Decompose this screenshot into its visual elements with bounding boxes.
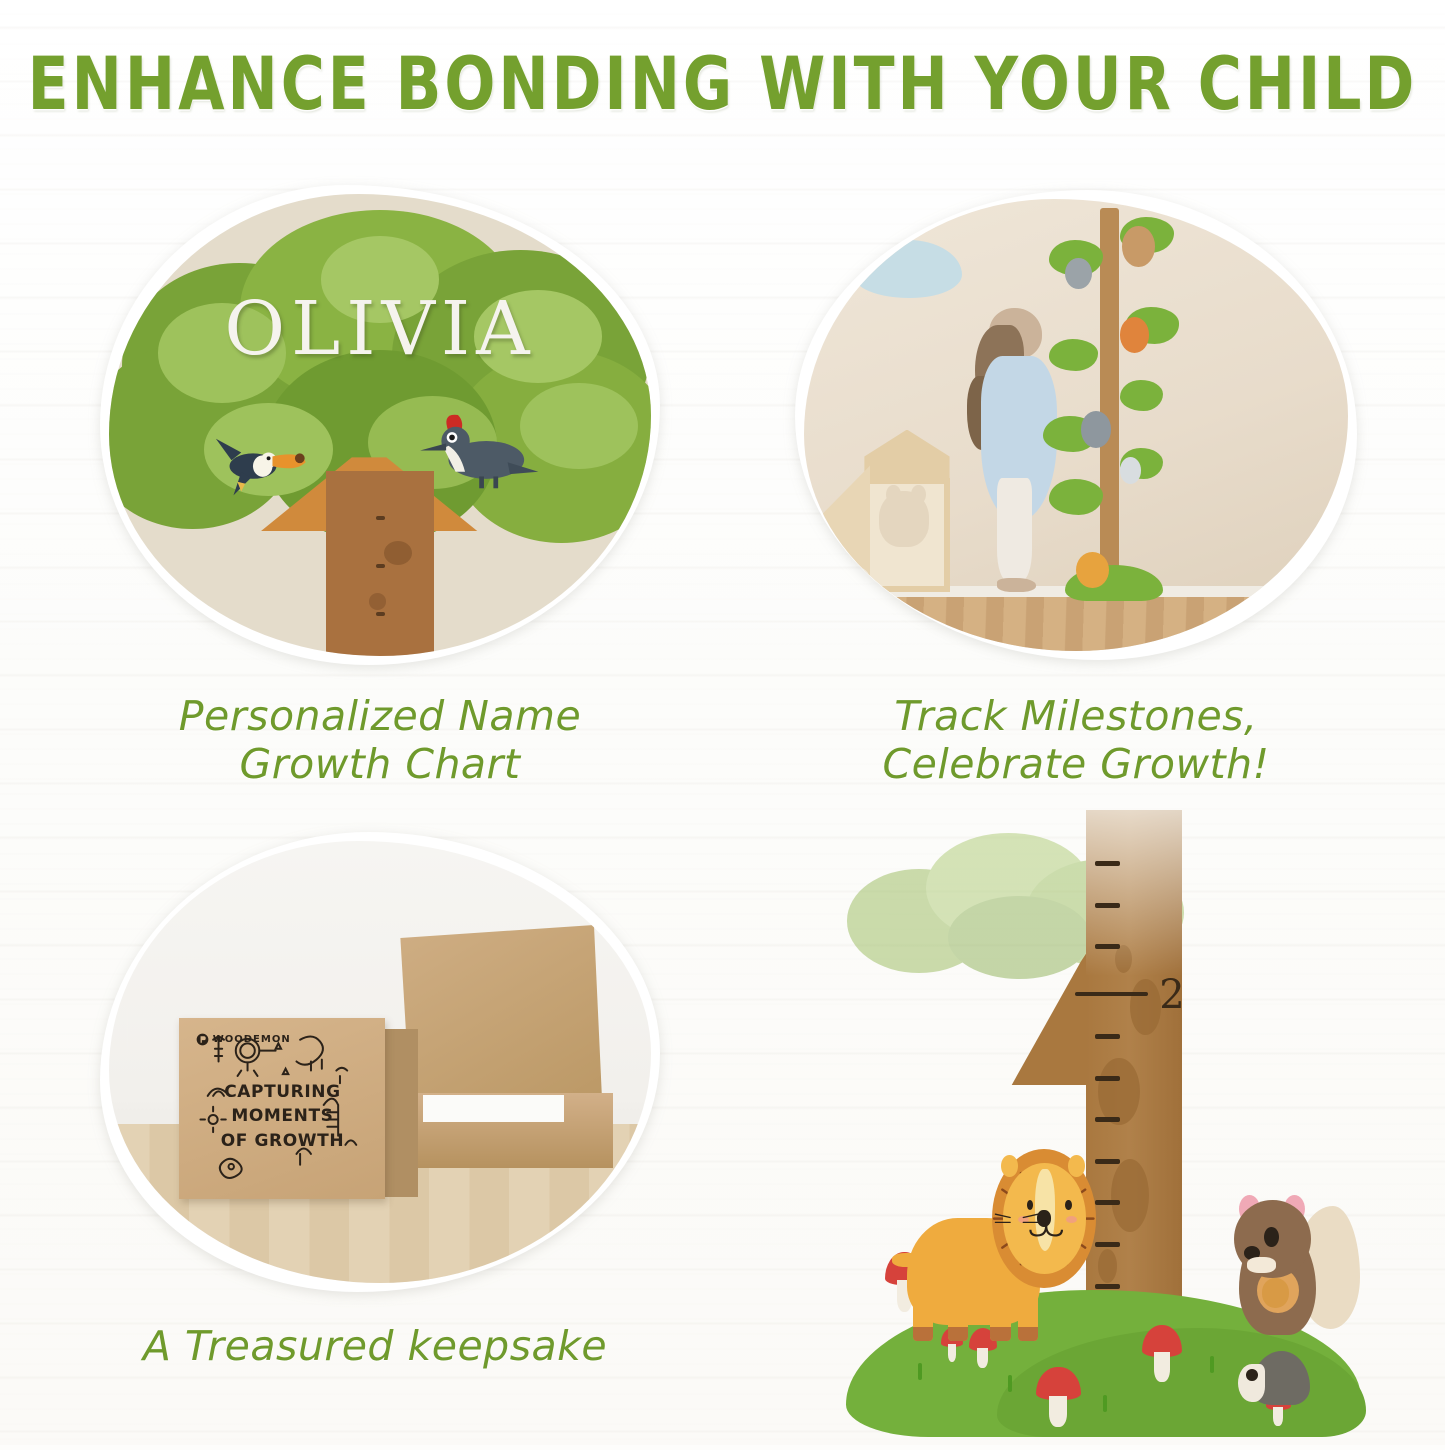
grass-tuft (1210, 1356, 1214, 1373)
ruler-tick-major (1075, 992, 1148, 996)
leaf-cluster (1049, 339, 1098, 371)
white-paper-insert (423, 1095, 564, 1122)
ruler-tick (1095, 1242, 1120, 1247)
brand-logo: WOODEMON (196, 1033, 291, 1046)
ruler-tick (1095, 1284, 1120, 1289)
logo-mark-icon (196, 1033, 209, 1046)
ruler-tick (1095, 1159, 1120, 1164)
grass-tuft (918, 1363, 922, 1380)
toucan-bird-icon (212, 416, 310, 508)
wall-growth-chart (1100, 208, 1118, 597)
bird-icon (1120, 457, 1142, 484)
caption-personalized-name-chart: Personalized Name Growth Chart (100, 692, 660, 789)
panel-treasured-keepsake: WOODEMON CAPTURING MOMENTS OF GROWTH (100, 832, 660, 1292)
ruler-tick (1095, 1034, 1120, 1039)
house-shelf-icon (820, 430, 967, 593)
kraft-box-side (385, 1029, 418, 1197)
kraft-box-open-lid (396, 925, 602, 1111)
ruler-tick (1095, 1200, 1120, 1205)
grass-tuft (1008, 1375, 1012, 1392)
panel-personalized-name-chart: OLIVIA (100, 185, 660, 665)
lion-whiskers-icon (989, 1206, 1044, 1239)
hedgehog-icon (1238, 1351, 1311, 1405)
lion-icon (907, 1136, 1092, 1341)
mushroom-icon (1036, 1367, 1081, 1425)
leaf-cluster (1120, 380, 1164, 412)
page-title: ENHANCE BONDING WITH YOUR CHILD (0, 42, 1445, 127)
ruler-tick (1095, 1076, 1120, 1081)
caption-treasured-keepsake: A Treasured keepsake (90, 1322, 660, 1370)
panel-track-milestones (795, 190, 1357, 660)
wood-floor (804, 597, 1348, 651)
squirrel-icon (1232, 1200, 1355, 1334)
ruler-number-label: 2 (1159, 972, 1184, 1018)
ruler-tick (1095, 1117, 1120, 1122)
woodpecker-bird-icon (413, 402, 543, 504)
panel-growth-chart-illustration: 2 (840, 810, 1400, 1450)
box-tagline: CAPTURING MOMENTS OF GROWTH (196, 1080, 369, 1154)
ruler-tick (1095, 903, 1120, 908)
grass-tuft (1103, 1395, 1107, 1412)
raccoon-icon (1081, 411, 1111, 447)
ruler-tick (1095, 944, 1120, 949)
fox-icon (1120, 317, 1150, 353)
monkey-icon (1122, 226, 1155, 267)
child-name-text: OLIVIA (109, 286, 651, 372)
brand-name: WOODEMON (213, 1034, 291, 1045)
lion-icon (1076, 552, 1109, 588)
mushroom-icon (1142, 1325, 1181, 1379)
ruler-tick (1095, 861, 1120, 866)
trunk-fade-overlay (1086, 810, 1181, 976)
caption-track-milestones: Track Milestones, Celebrate Growth! (795, 692, 1357, 789)
